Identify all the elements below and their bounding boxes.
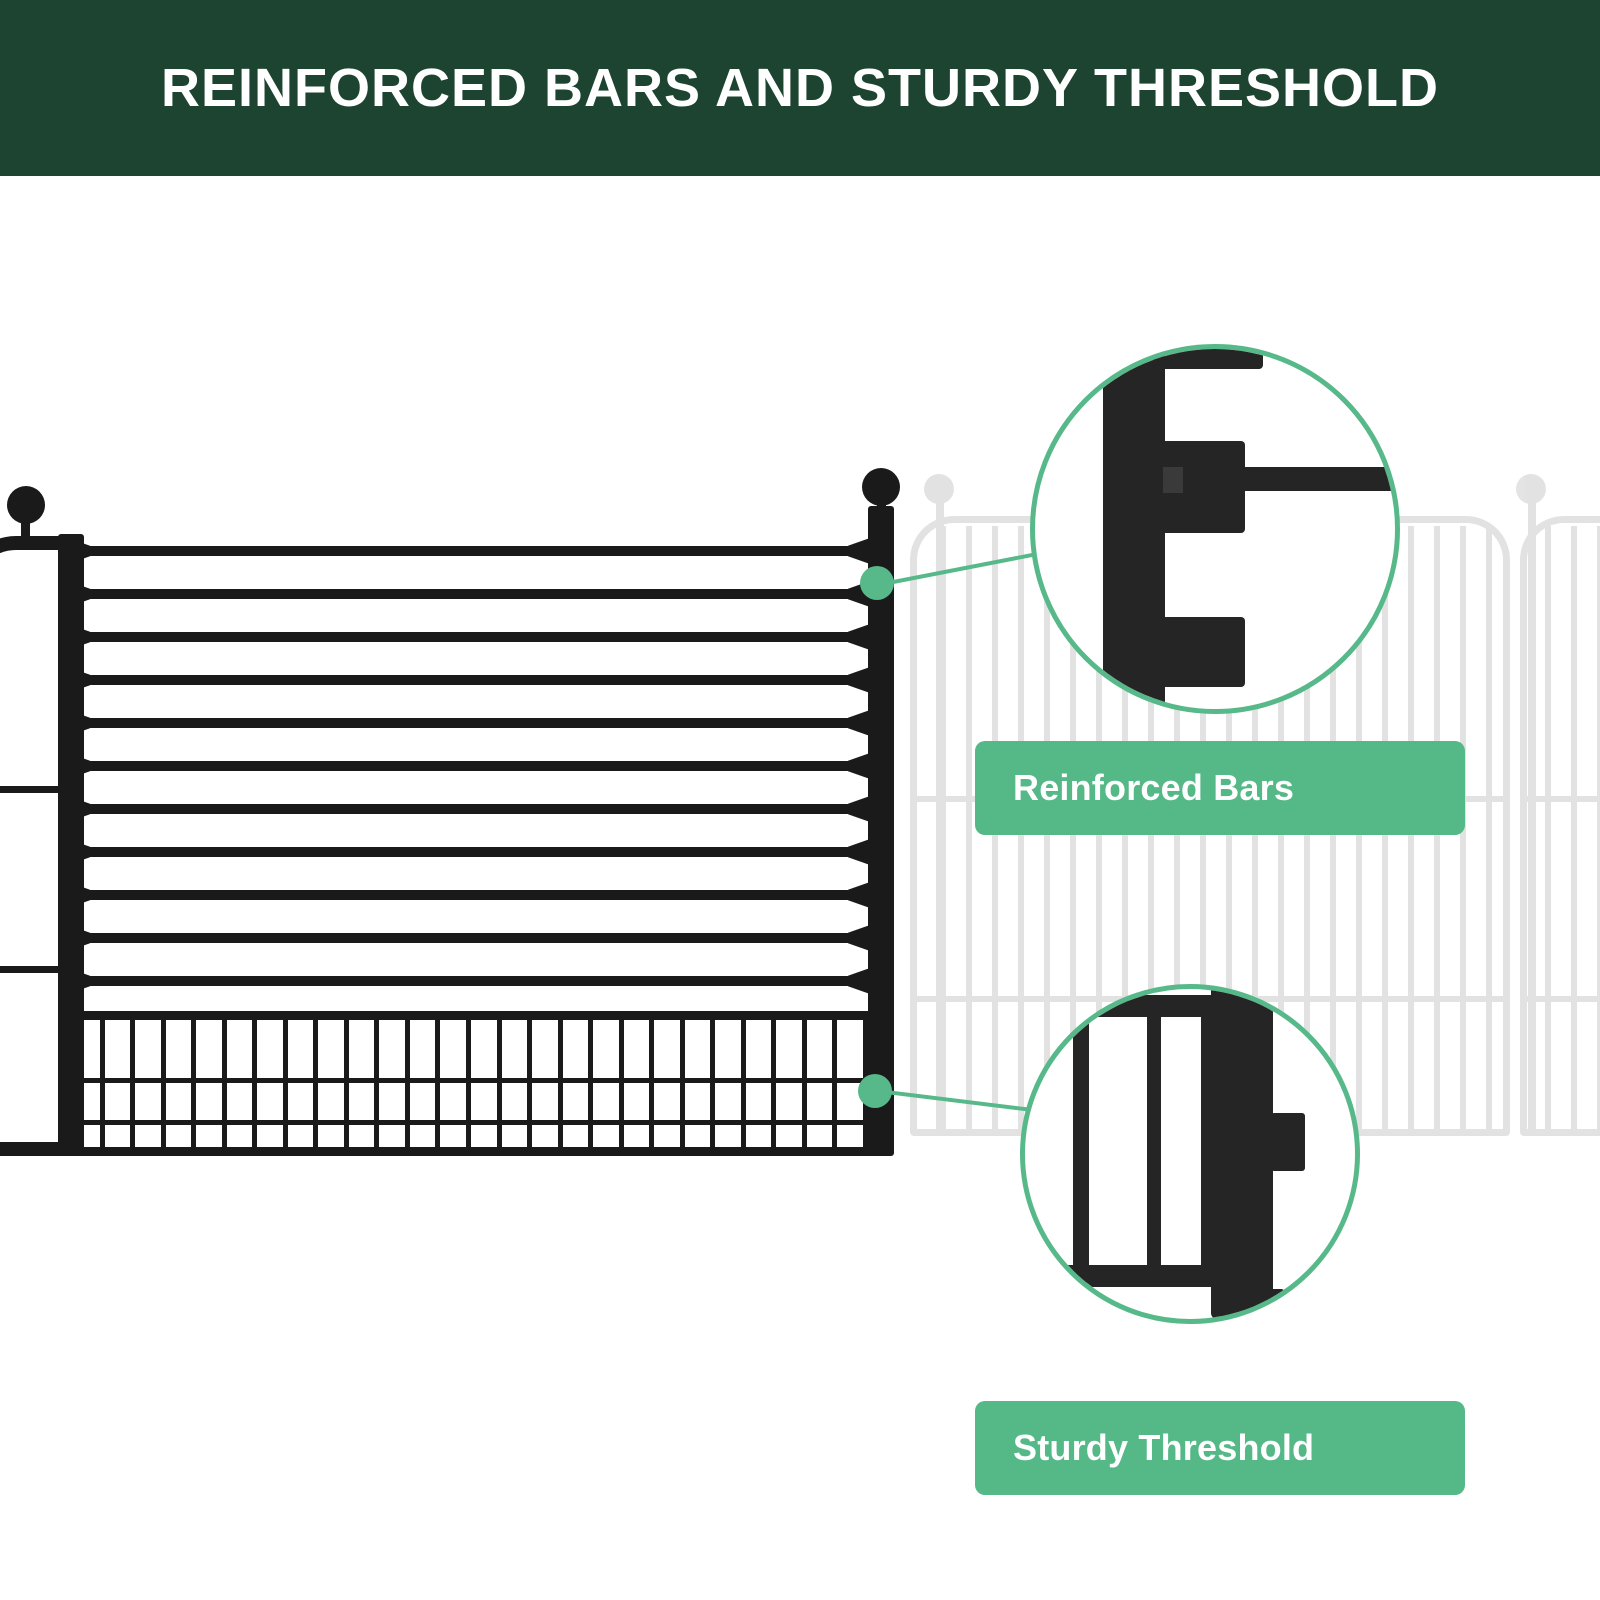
threshold-latch-tab [1271,1113,1305,1171]
ghost-rail-low-2 [1520,996,1600,1002]
ghost-vertical-bar [966,526,972,1134]
reinforced-bar [78,847,868,857]
grid-vertical-bar [130,1020,135,1147]
reinforced-bar [78,718,868,728]
grid-vertical-bar [283,1020,288,1147]
grid-vertical-bar [313,1020,318,1147]
ghost-vertical-bar [1545,526,1551,1134]
reinforced-bar [78,546,868,556]
ghost-vertical-bar [940,526,946,1134]
grid-vertical-bar [527,1020,532,1147]
reinforced-bar [78,589,868,599]
callout-rod [1231,467,1400,491]
bar-cap-right [848,753,870,779]
reinforced-bar [78,675,868,685]
stem-left [21,516,30,546]
grid-vertical-bar [100,1020,105,1147]
label-sturdy-threshold-text: Sturdy Threshold [1013,1427,1314,1469]
bar-cap-right [848,882,870,908]
reinforced-bar [78,976,868,986]
grid-vertical-bar [649,1020,654,1147]
grid-vertical-bar [680,1020,685,1147]
threshold-foot [1221,1289,1285,1324]
grid-vertical-bar [405,1020,410,1147]
grid-vertical-bar [710,1020,715,1147]
main-panel [0,486,920,1176]
bar-cap-right [848,839,870,865]
ghost-rail-mid-2 [1520,796,1600,802]
callout-bracket-notch [1163,467,1183,493]
grid-vertical-bar [771,1020,776,1147]
grid-vertical-bar [344,1020,349,1147]
grid-vertical-bar [741,1020,746,1147]
reinforced-bar [78,890,868,900]
bar-cap-right [848,796,870,822]
threshold-left-stile [1073,1013,1089,1283]
bar-cap-right [848,968,870,994]
grid-vertical-bar [161,1020,166,1147]
ghost-vertical-bar [1486,526,1492,1134]
reinforced-bar [78,761,868,771]
grid-vertical-bar [832,1020,837,1147]
threshold-grid [60,1011,872,1156]
bar-cap-right [848,667,870,693]
product-illustration: Reinforced Bars Sturdy Threshold [0,176,1600,1600]
grid-vertical-bar [802,1020,807,1147]
callout-post-plate [1103,344,1165,714]
ghost-knob-right [1516,474,1546,504]
bar-cap-right [848,538,870,564]
grid-horizontal-bar [69,1078,863,1083]
callout-bracket-top [1153,344,1263,369]
threshold-bottom-rail [1065,1265,1223,1287]
grid-vertical-bar [252,1020,257,1147]
page-title: REINFORCED BARS AND STURDY THRESHOLD [161,61,1439,115]
grid-vertical-bar [374,1020,379,1147]
threshold-top-rail [1065,995,1223,1017]
grid-vertical-bar [497,1020,502,1147]
grid-vertical-bar [435,1020,440,1147]
reinforced-bar [78,632,868,642]
grid-vertical-bar [619,1020,624,1147]
bar-cap-right [848,710,870,736]
label-reinforced-bars-text: Reinforced Bars [1013,767,1294,809]
grid-vertical-bar [558,1020,563,1147]
reinforced-bar [78,804,868,814]
threshold-center-stile [1147,1013,1161,1283]
callout-bracket-low [1159,617,1245,687]
grid-vertical-bar [466,1020,471,1147]
grid-horizontal-bar [69,1120,863,1125]
grid-vertical-bar [588,1020,593,1147]
bar-cap-right [848,925,870,951]
grid-vertical-bar [191,1020,196,1147]
threshold-right-stile [1201,1013,1217,1283]
ghost-post-right [1528,502,1536,1136]
product-feature-image: REINFORCED BARS AND STURDY THRESHOLD [0,0,1600,1600]
label-reinforced-bars: Reinforced Bars [975,741,1465,835]
ghost-vertical-bar [1571,526,1577,1134]
bar-cap-right [848,624,870,650]
sturdy-threshold-callout [1020,984,1360,1324]
label-sturdy-threshold: Sturdy Threshold [975,1401,1465,1495]
reinforced-bar [78,933,868,943]
reinforced-bars-callout [1030,344,1400,714]
ghost-knob-left [924,474,954,504]
header-banner: REINFORCED BARS AND STURDY THRESHOLD [0,0,1600,176]
grid-vertical-bar [222,1020,227,1147]
